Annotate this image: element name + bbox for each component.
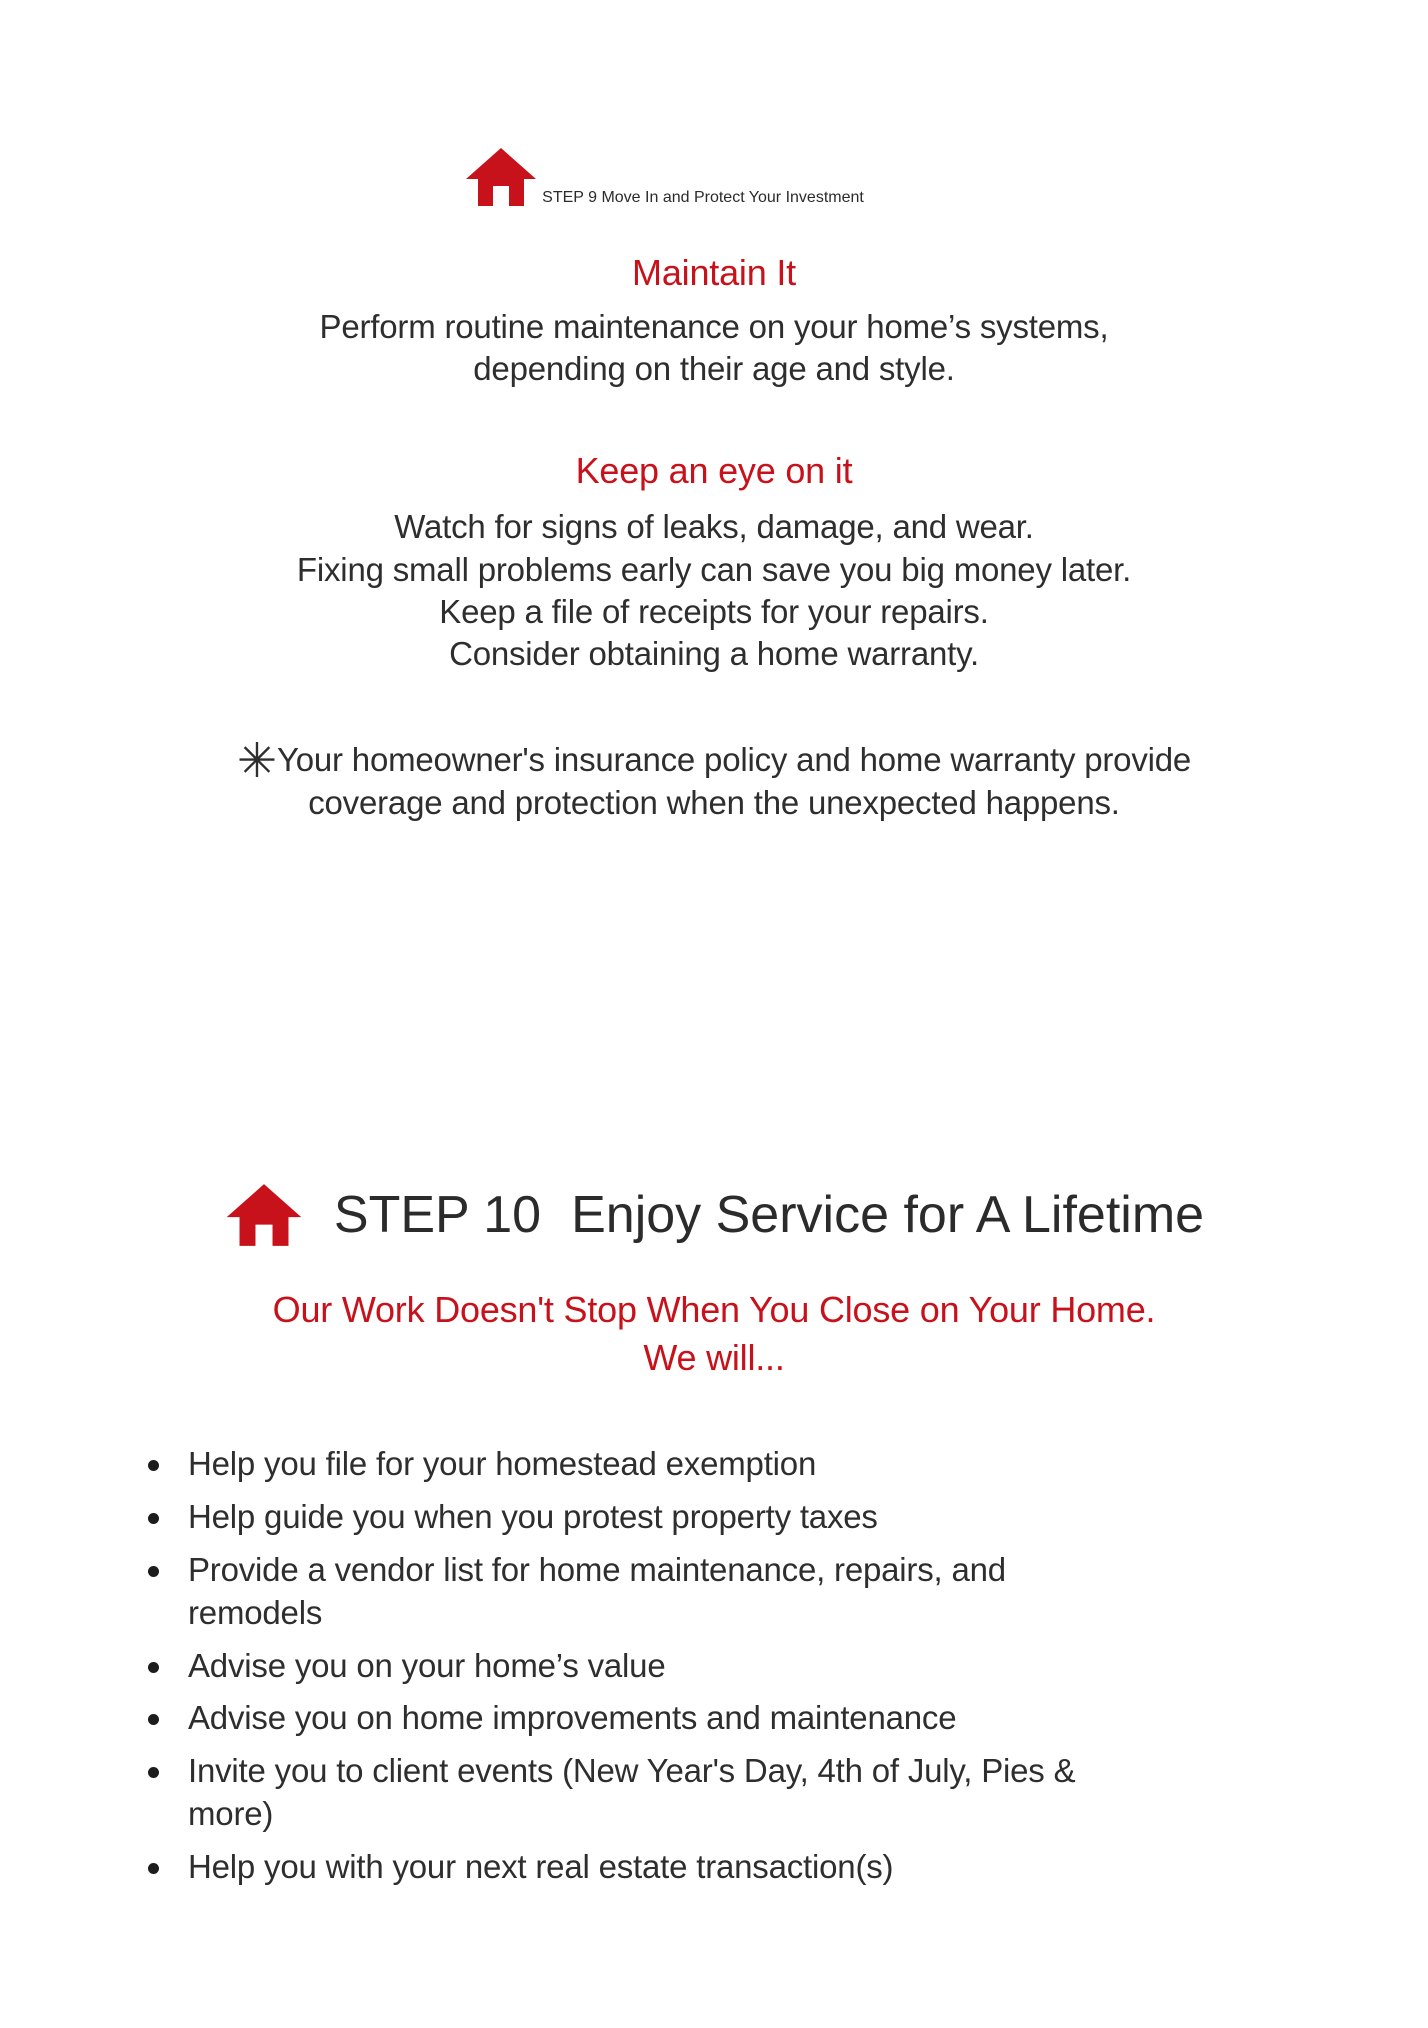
service-text: Provide a vendor list for home maintenan… (188, 1551, 1006, 1631)
insurance-note: ✳Your homeowner's insurance policy and h… (144, 739, 1284, 823)
house-icon (464, 146, 538, 208)
keep-an-eye-block: Keep an eye on it Watch for signs of lea… (0, 450, 1428, 675)
keep-line-1: Watch for signs of leaks, damage, and we… (0, 506, 1428, 548)
subtitle-line-2: We will... (0, 1334, 1428, 1382)
keep-line-3: Keep a file of receipts for your repairs… (0, 591, 1428, 633)
list-item: Provide a vendor list for home maintenan… (130, 1549, 1130, 1635)
house-icon (224, 1182, 304, 1248)
step-9-label: STEP 9 (542, 189, 597, 206)
bullet-icon (148, 1566, 159, 1577)
bullet-icon (148, 1662, 159, 1673)
keep-line-4: Consider obtaining a home warranty. (0, 633, 1428, 675)
step-10-title: Enjoy Service for A Lifetime (571, 1185, 1204, 1245)
bullet-icon (148, 1513, 159, 1524)
service-text: Invite you to client events (New Year's … (188, 1752, 1075, 1832)
bullet-icon (148, 1863, 159, 1874)
step-9-heading: STEP 9 Move In and Protect Your Investme… (4, 146, 1424, 208)
list-item: Advise you on your home’s value (130, 1645, 1130, 1688)
maintain-it-block: Maintain It Perform routine maintenance … (0, 252, 1428, 390)
service-text: Advise you on your home’s value (188, 1647, 665, 1684)
list-item: Advise you on home improvements and main… (130, 1697, 1130, 1740)
note-line-1: Your homeowner's insurance policy and ho… (277, 741, 1191, 778)
maintain-it-heading: Maintain It (0, 252, 1428, 294)
step-10-label: STEP 10 (334, 1185, 541, 1245)
step-10-section: STEP 10 Enjoy Service for A Lifetime Our… (0, 1182, 1428, 1899)
keep-an-eye-heading: Keep an eye on it (0, 450, 1428, 492)
step-10-heading: STEP 10 Enjoy Service for A Lifetime (0, 1182, 1428, 1248)
bullet-icon (148, 1767, 159, 1778)
service-text: Advise you on home improvements and main… (188, 1699, 956, 1736)
maintain-line-2: depending on their age and style. (0, 348, 1428, 390)
keep-line-2: Fixing small problems early can save you… (0, 549, 1428, 591)
services-list: Help you file for your homestead exempti… (130, 1443, 1130, 1889)
list-item: Help you file for your homestead exempti… (130, 1443, 1130, 1486)
bullet-icon (148, 1714, 159, 1725)
asterisk-icon: ✳ (237, 735, 277, 788)
service-text: Help you with your next real estate tran… (188, 1848, 893, 1885)
list-item: Invite you to client events (New Year's … (130, 1750, 1130, 1836)
step-9-section: STEP 9 Move In and Protect Your Investme… (0, 146, 1428, 824)
list-item: Help guide you when you protest property… (130, 1496, 1130, 1539)
subtitle-line-1: Our Work Doesn't Stop When You Close on … (0, 1286, 1428, 1334)
note-line-2: coverage and protection when the unexpec… (144, 782, 1284, 824)
maintain-line-1: Perform routine maintenance on your home… (0, 306, 1428, 348)
document-page: STEP 9 Move In and Protect Your Investme… (0, 0, 1428, 2028)
service-text: Help guide you when you protest property… (188, 1498, 878, 1535)
list-item: Help you with your next real estate tran… (130, 1846, 1130, 1889)
step-10-subtitle: Our Work Doesn't Stop When You Close on … (0, 1286, 1428, 1381)
bullet-icon (148, 1460, 159, 1471)
service-text: Help you file for your homestead exempti… (188, 1445, 816, 1482)
step-9-title: Move In and Protect Your Investment (601, 189, 863, 206)
